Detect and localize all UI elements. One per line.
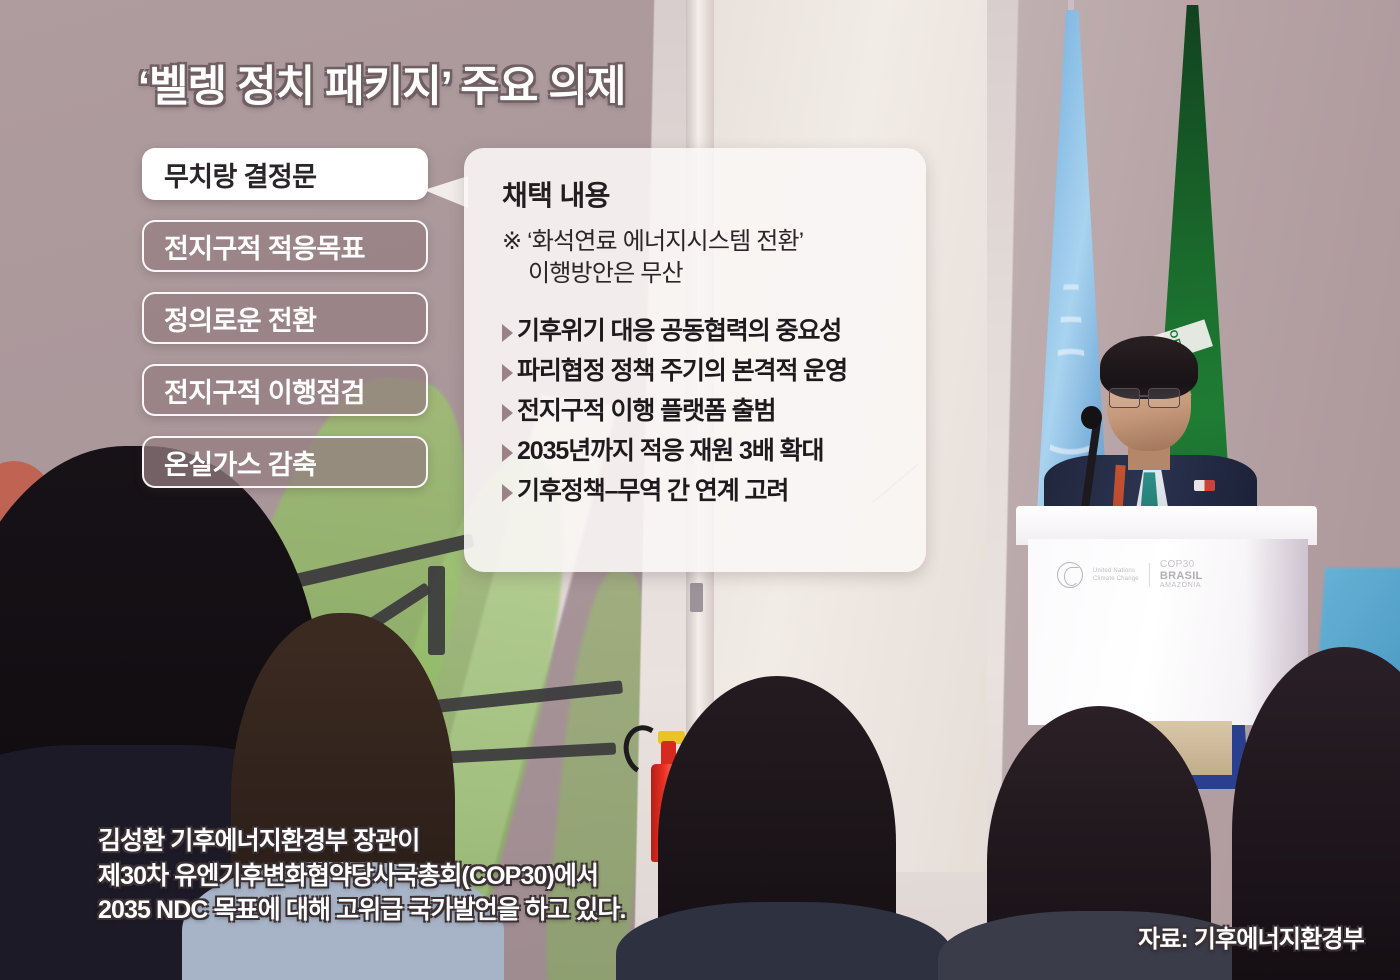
page-title: ‘벨렝 정치 패키지’ 주요 의제 (138, 52, 625, 114)
agenda-chip-just-transition[interactable]: 정의로운 전환 (142, 292, 428, 344)
callout-bullet-item: 기후위기 대응 공동협력의 중요성 (502, 319, 904, 344)
callout-bullet-label: 2035년까지 적응 재원 3배 확대 (517, 439, 823, 464)
callout-bullet-label: 기후위기 대응 공동협력의 중요성 (517, 319, 841, 344)
agenda-chip-list: 무치랑 결정문 전지구적 적응목표 정의로운 전환 전지구적 이행점검 온실가스… (142, 148, 428, 508)
callout-note: ※ ‘화석연료 에너지시스템 전환’ 이행방안은 무산 (502, 226, 904, 289)
agenda-chip-global-stocktake[interactable]: 전지구적 이행점검 (142, 364, 428, 416)
triangle-bullet-icon (502, 404, 513, 422)
callout-card: 채택 내용 ※ ‘화석연료 에너지시스템 전환’ 이행방안은 무산 기후위기 대… (464, 148, 926, 572)
agenda-chip-ghg-reduction[interactable]: 온실가스 감축 (142, 436, 428, 488)
caption-line-3: 2035 NDC 목표에 대해 고위급 국가발언을 하고 있다. (98, 893, 626, 928)
callout-pointer-icon (424, 176, 468, 208)
agenda-chip-global-adaptation-goal[interactable]: 전지구적 적응목표 (142, 220, 428, 272)
callout-bullet-label: 전지구적 이행 플랫폼 출범 (517, 399, 775, 424)
callout-bullet-item: 기후정책–무역 간 연계 고려 (502, 479, 904, 504)
callout-note-line-2: 이행방안은 무산 (502, 258, 904, 290)
callout-title: 채택 내용 (502, 174, 904, 214)
caption-line-2: 제30차 유엔기후변화협약당사국총회(COP30)에서 (98, 859, 626, 894)
triangle-bullet-icon (502, 484, 513, 502)
triangle-bullet-icon (502, 364, 513, 382)
agenda-chip-label: 전지구적 적응목표 (164, 227, 365, 266)
callout-bullet-list: 기후위기 대응 공동협력의 중요성 파리협정 정책 주기의 본격적 운영 전지구… (502, 319, 904, 504)
caption-line-1: 김성환 기후에너지환경부 장관이 (98, 824, 626, 859)
callout-note-line-1: ※ ‘화석연료 에너지시스템 전환’ (502, 228, 803, 255)
source-attribution: 자료: 기후에너지환경부 (1138, 919, 1364, 954)
agenda-chip-mutirao-decision[interactable]: 무치랑 결정문 (142, 148, 428, 200)
callout-bullet-label: 기후정책–무역 간 연계 고려 (517, 479, 788, 504)
infographic-root: ORD ★ ★ ★ United Nations Climate Change (0, 0, 1400, 980)
callout-bullet-item: 파리협정 정책 주기의 본격적 운영 (502, 359, 904, 384)
photo-caption: 김성환 기후에너지환경부 장관이 제30차 유엔기후변화협약당사국총회(COP3… (98, 824, 626, 928)
callout-bullet-item: 전지구적 이행 플랫폼 출범 (502, 399, 904, 424)
agenda-chip-label: 정의로운 전환 (164, 299, 316, 338)
triangle-bullet-icon (502, 324, 513, 342)
triangle-bullet-icon (502, 444, 513, 462)
callout-bullet-label: 파리협정 정책 주기의 본격적 운영 (517, 359, 847, 384)
agenda-chip-label: 전지구적 이행점검 (164, 371, 365, 410)
callout-bullet-item: 2035년까지 적응 재원 3배 확대 (502, 439, 904, 464)
agenda-chip-label: 무치랑 결정문 (164, 155, 316, 194)
agenda-chip-label: 온실가스 감축 (164, 443, 316, 482)
infographic-overlay: ‘벨렝 정치 패키지’ 주요 의제 무치랑 결정문 전지구적 적응목표 정의로운… (0, 0, 1400, 980)
